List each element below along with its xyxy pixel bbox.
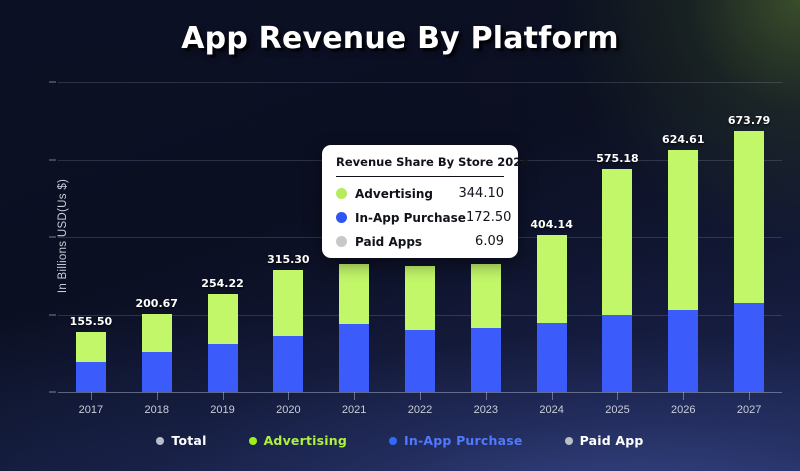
legend-item[interactable]: Advertising [249, 433, 347, 448]
tooltip-series-name: In-App Purchase [355, 211, 466, 225]
chart-legend: TotalAdvertisingIn-App PurchasePaid App [0, 433, 800, 448]
x-axis-tick-mark [157, 392, 158, 400]
bar-segment-in-app-purchase[interactable] [339, 324, 369, 392]
bar-segment-in-app-purchase[interactable] [602, 315, 632, 393]
bar-value-label: 404.14 [530, 218, 572, 231]
chart-title: App Revenue By Platform [0, 21, 800, 56]
x-axis-tick-label: 2019 [210, 404, 234, 416]
x-axis-tick-label: 2027 [737, 404, 761, 416]
tooltip-row: Advertising344.10 [336, 186, 504, 201]
x-axis-tick-mark [354, 392, 355, 400]
legend-item[interactable]: In-App Purchase [389, 433, 523, 448]
tooltip-dot-icon [336, 188, 347, 199]
bar-group[interactable]: 404.14 [537, 235, 567, 392]
x-axis-tick-label: 2023 [474, 404, 498, 416]
x-axis-tick-mark [420, 392, 421, 400]
tooltip-rows: Advertising344.10In-App Purchase172.50Pa… [336, 186, 504, 249]
x-axis: 2017201820192020202120222023202420252026… [58, 392, 782, 422]
x-axis-tick-label: 2022 [408, 404, 432, 416]
legend-item[interactable]: Paid App [565, 433, 644, 448]
tooltip-dot-icon [336, 236, 347, 247]
bar-segment-advertising[interactable] [273, 270, 303, 336]
bar-group[interactable]: 315.30 [273, 270, 303, 392]
bar-segment-advertising[interactable] [208, 294, 238, 344]
bar-segment-in-app-purchase[interactable] [208, 344, 238, 392]
x-axis-tick-label: 2024 [539, 404, 563, 416]
tooltip-series-name: Paid Apps [355, 235, 422, 249]
x-axis-tick-mark [288, 392, 289, 400]
legend-dot-icon [249, 437, 257, 445]
tooltip-dot-icon [336, 212, 347, 223]
bar-segment-in-app-purchase[interactable] [734, 303, 764, 392]
bar-group[interactable] [471, 264, 501, 392]
tooltip-row: In-App Purchase172.50 [336, 210, 504, 225]
legend-item[interactable]: Total [156, 433, 206, 448]
bar-group[interactable]: 673.79 [734, 131, 764, 392]
bar-segment-advertising[interactable] [142, 314, 172, 352]
bar-segment-advertising[interactable] [734, 131, 764, 303]
y-axis-tick-mark [49, 237, 56, 238]
legend-dot-icon [156, 437, 164, 445]
bar-value-label: 155.50 [70, 315, 112, 328]
bar-group[interactable] [339, 264, 369, 392]
x-axis-tick-mark [749, 392, 750, 400]
legend-dot-icon [389, 437, 397, 445]
bar-segment-advertising[interactable] [668, 150, 698, 310]
bar-group[interactable]: 254.22 [208, 294, 238, 393]
bar-segment-advertising[interactable] [405, 266, 435, 330]
x-axis-tick-label: 2018 [144, 404, 168, 416]
bar-group[interactable]: 575.18 [602, 169, 632, 392]
x-axis-tick-mark [617, 392, 618, 400]
bar-segment-in-app-purchase[interactable] [668, 310, 698, 392]
tooltip-series-value: 172.50 [466, 210, 512, 225]
x-axis-tick-mark [552, 392, 553, 400]
bar-value-label: 673.79 [728, 114, 770, 127]
bar-value-label: 200.67 [135, 297, 177, 310]
y-axis-tick-mark [49, 159, 56, 160]
bar-value-label: 254.22 [201, 277, 243, 290]
x-axis-tick-label: 2021 [342, 404, 366, 416]
bar-segment-in-app-purchase[interactable] [76, 362, 106, 392]
tooltip-row: Paid Apps6.09 [336, 234, 504, 249]
bar-group[interactable]: 624.61 [668, 150, 698, 392]
x-axis-tick-label: 2020 [276, 404, 300, 416]
tooltip-series-value: 6.09 [475, 234, 504, 249]
x-axis-tick-mark [91, 392, 92, 400]
bar-segment-advertising[interactable] [602, 169, 632, 314]
bar-value-label: 315.30 [267, 253, 309, 266]
y-axis-tick-mark [49, 82, 56, 83]
x-axis-tick-label: 2026 [671, 404, 695, 416]
gridline [58, 82, 782, 83]
bar-segment-advertising[interactable] [471, 264, 501, 328]
bar-segment-in-app-purchase[interactable] [405, 330, 435, 392]
bar-segment-in-app-purchase[interactable] [142, 352, 172, 392]
bar-group[interactable] [405, 266, 435, 392]
legend-label: In-App Purchase [404, 433, 523, 448]
chart-canvas: App Revenue By Platform In Billions USD(… [0, 0, 800, 471]
legend-label: Total [171, 433, 206, 448]
bar-value-label: 624.61 [662, 133, 704, 146]
bar-segment-in-app-purchase[interactable] [273, 336, 303, 392]
bar-segment-advertising[interactable] [339, 264, 369, 324]
x-axis-tick-mark [486, 392, 487, 400]
bar-segment-advertising[interactable] [76, 332, 106, 362]
bar-group[interactable]: 200.67 [142, 314, 172, 392]
y-axis-tick-mark [49, 314, 56, 315]
bar-segment-in-app-purchase[interactable] [537, 323, 567, 392]
y-axis-tick-mark [49, 392, 56, 393]
bar-group[interactable]: 155.50 [76, 332, 106, 392]
tooltip-panel: Revenue Share By Store 2024 Advertising3… [322, 145, 518, 258]
x-axis-tick-mark [683, 392, 684, 400]
bar-value-label: 575.18 [596, 152, 638, 165]
bar-segment-advertising[interactable] [537, 235, 567, 323]
x-axis-tick-mark [223, 392, 224, 400]
legend-label: Paid App [580, 433, 644, 448]
legend-label: Advertising [264, 433, 347, 448]
tooltip-series-name: Advertising [355, 187, 433, 201]
x-axis-tick-label: 2025 [605, 404, 629, 416]
legend-dot-icon [565, 437, 573, 445]
tooltip-series-value: 344.10 [459, 186, 505, 201]
bar-segment-in-app-purchase[interactable] [471, 328, 501, 392]
x-axis-tick-label: 2017 [79, 404, 103, 416]
tooltip-title: Revenue Share By Store 2024 [336, 155, 504, 177]
